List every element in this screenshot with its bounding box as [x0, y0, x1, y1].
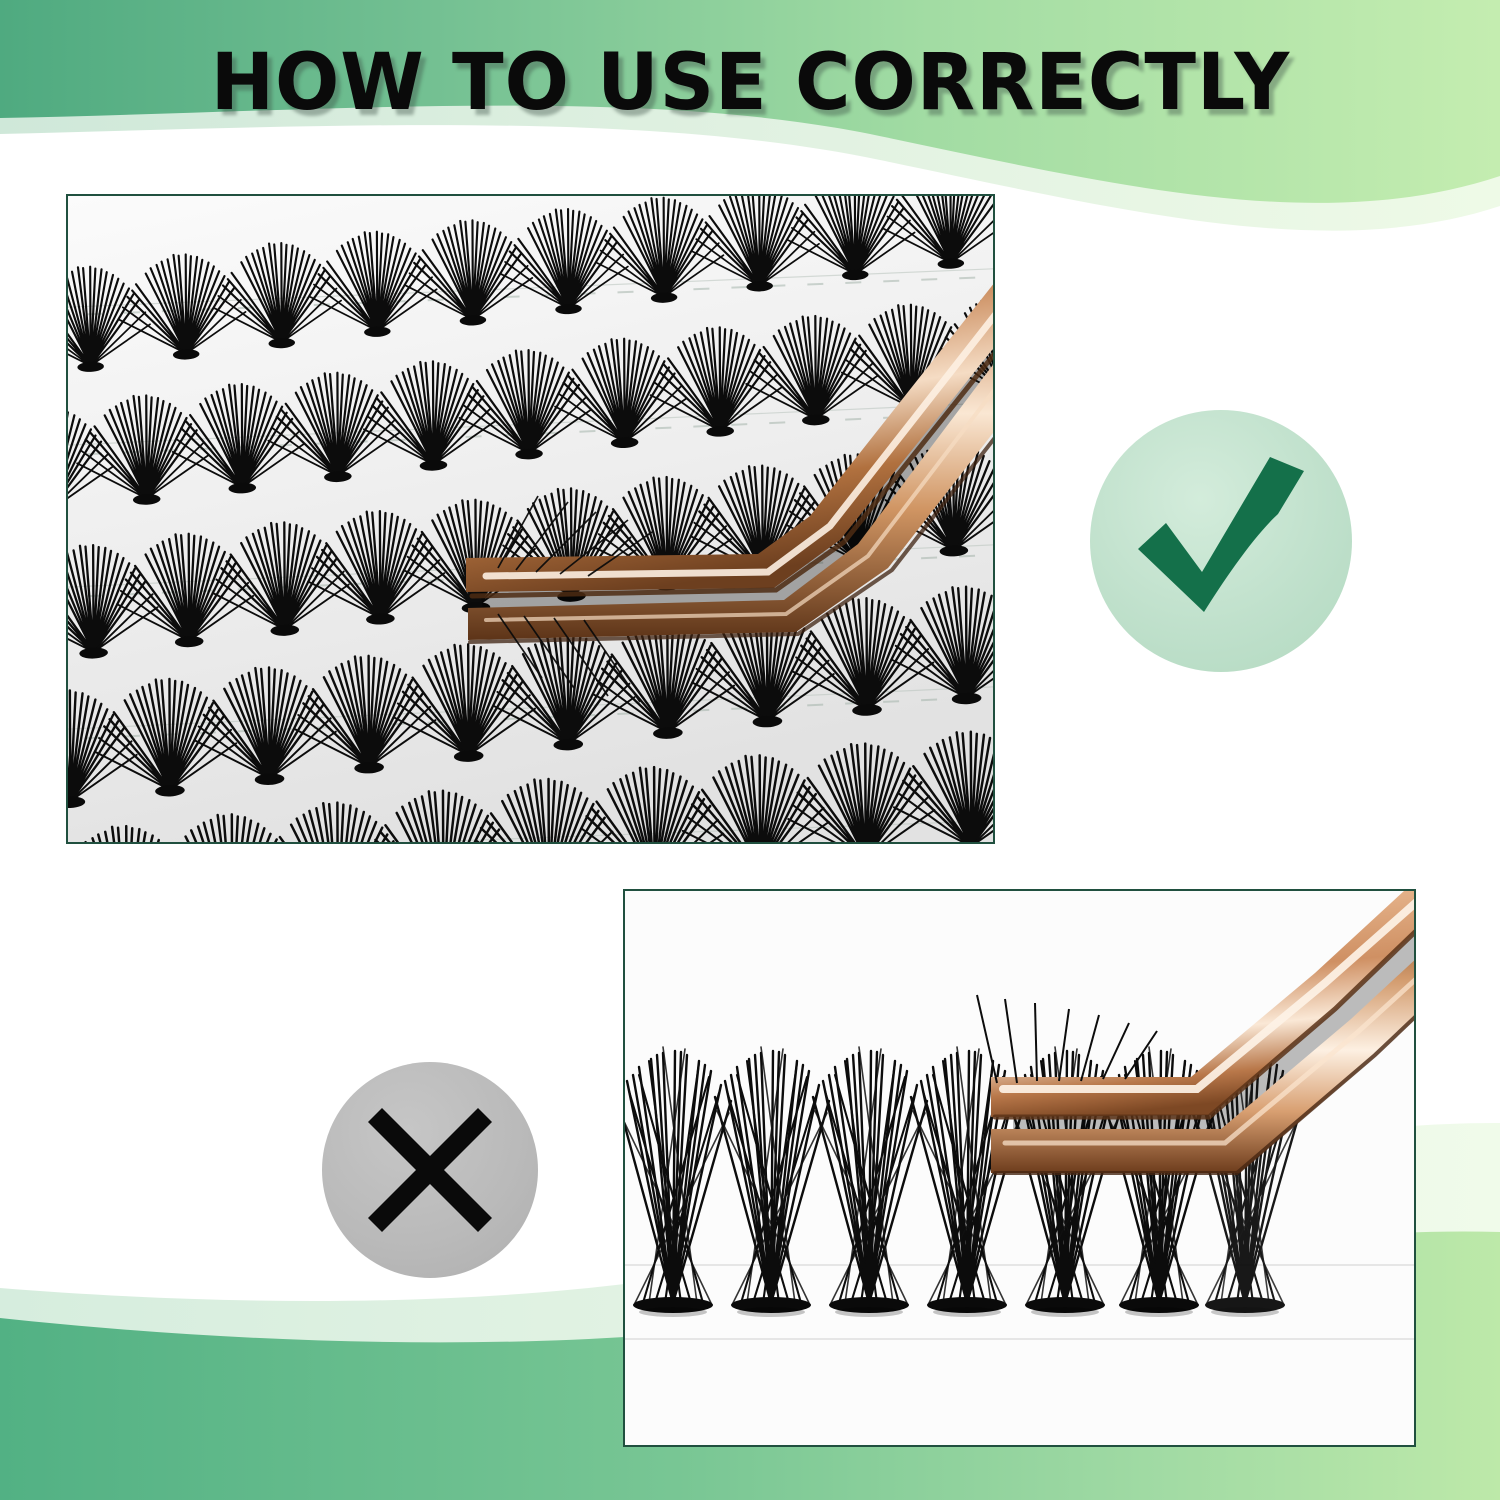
lash-tray-with-tweezers-photo [66, 194, 995, 844]
poster-root: HOW TO USE CORRECTLY [0, 0, 1500, 1500]
status-badge-wrong [322, 1062, 538, 1278]
check-mark-icon [1090, 410, 1352, 672]
page-title-text: HOW TO USE CORRECTLY [210, 46, 1289, 122]
page-title: HOW TO USE CORRECTLY [0, 46, 1500, 122]
lash-row-illustration [625, 891, 1414, 1445]
status-badge-correct [1090, 410, 1352, 672]
lash-clusters-row-with-tweezers-photo [623, 889, 1416, 1447]
cross-mark-icon [322, 1062, 538, 1278]
lash-tray-illustration [68, 196, 993, 842]
